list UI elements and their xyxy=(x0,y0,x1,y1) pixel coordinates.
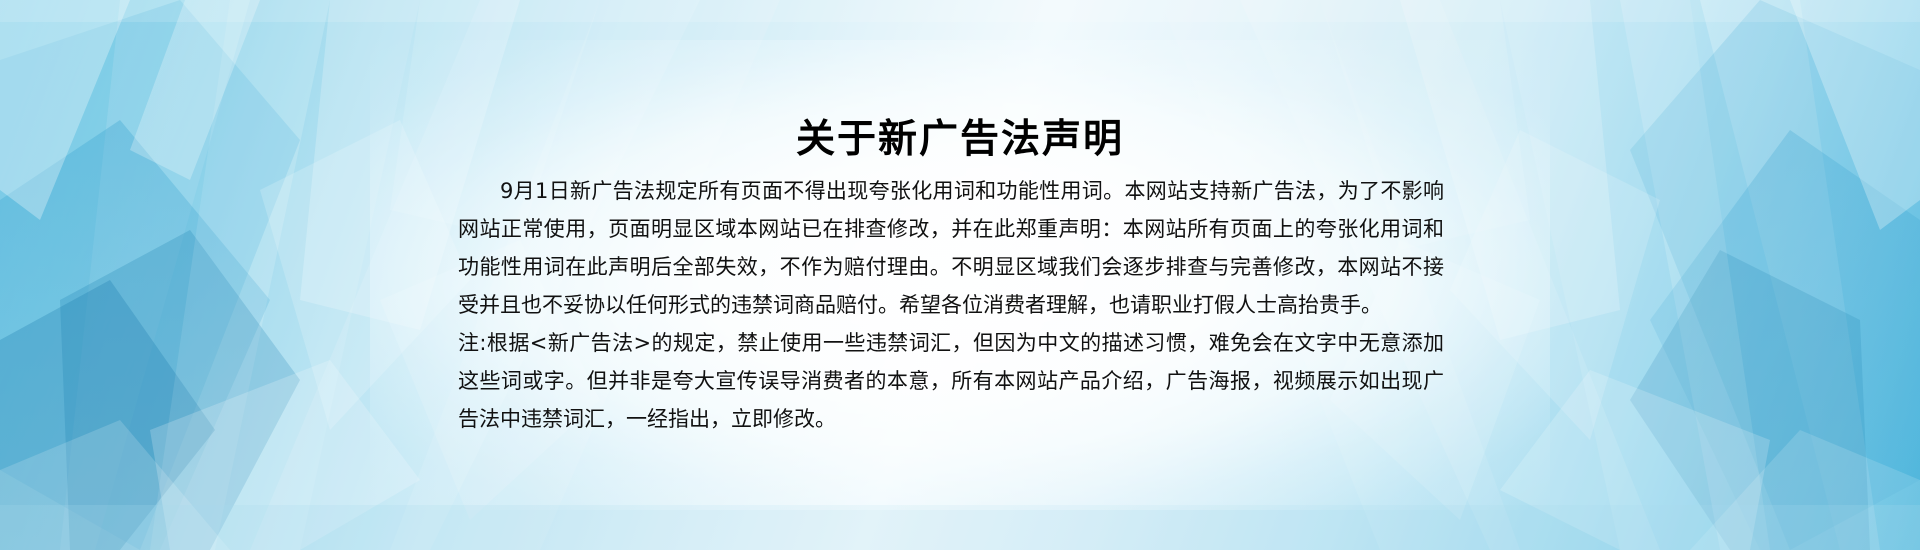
statement-paragraph-2: 注:根据<新广告法>的规定，禁止使用一些违禁词汇，但因为中文的描述习惯，难免会在… xyxy=(458,324,1444,438)
page-title: 关于新广告法声明 xyxy=(0,118,1920,162)
statement-paragraph-1: 9月1日新广告法规定所有页面不得出现夸张化用词和功能性用词。本网站支持新广告法，… xyxy=(458,172,1444,324)
banner-content: 关于新广告法声明 9月1日新广告法规定所有页面不得出现夸张化用词和功能性用词。本… xyxy=(0,0,1920,550)
advertising-law-statement-banner: 关于新广告法声明 9月1日新广告法规定所有页面不得出现夸张化用词和功能性用词。本… xyxy=(0,0,1920,550)
statement-body: 9月1日新广告法规定所有页面不得出现夸张化用词和功能性用词。本网站支持新广告法，… xyxy=(458,172,1444,438)
